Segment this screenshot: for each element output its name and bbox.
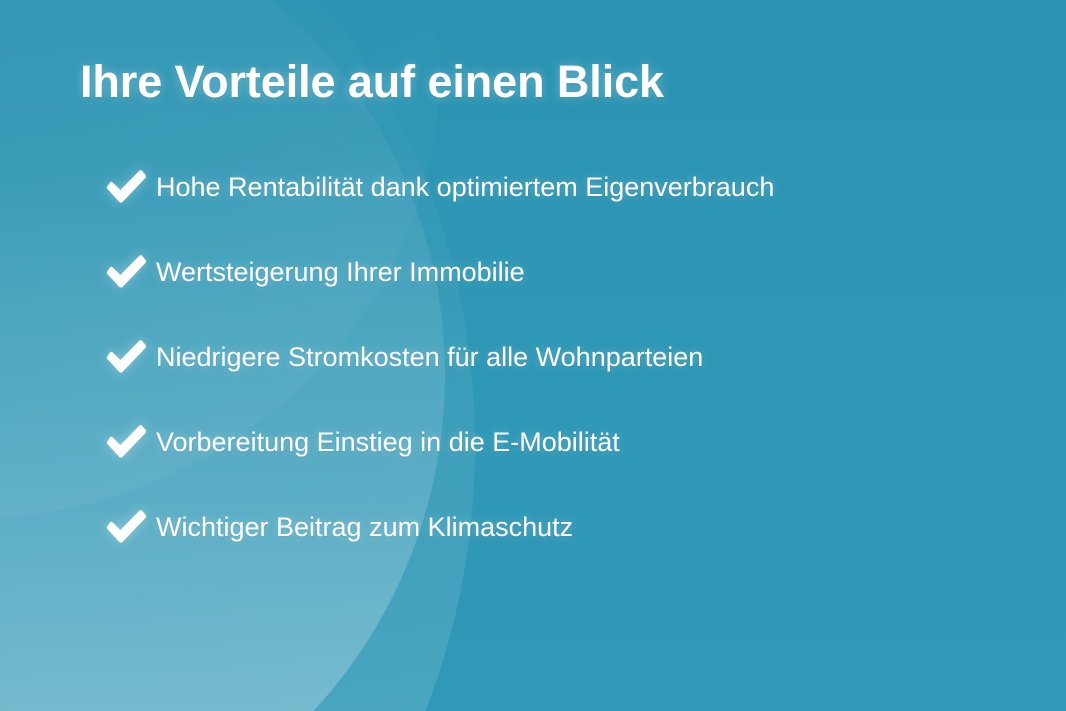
benefit-list-item: Vorbereitung Einstieg in die E-Mobilität <box>104 419 774 465</box>
check-icon <box>104 252 150 292</box>
benefit-list-item: Niedrigere Stromkosten für alle Wohnpart… <box>104 334 774 380</box>
check-icon <box>104 507 150 547</box>
slide-title: Ihre Vorteile auf einen Blick <box>80 56 664 108</box>
benefit-label: Niedrigere Stromkosten für alle Wohnpart… <box>156 342 703 373</box>
slide-content: Ihre Vorteile auf einen Blick Hohe Renta… <box>0 0 1066 711</box>
benefit-label: Wertsteigerung Ihrer Immobilie <box>156 257 525 288</box>
benefit-list-item: Wichtiger Beitrag zum Klimaschutz <box>104 504 774 550</box>
benefit-list: Hohe Rentabilität dank optimiertem Eigen… <box>104 164 774 550</box>
slide-canvas: Ihre Vorteile auf einen Blick Hohe Renta… <box>0 0 1066 711</box>
benefit-label: Hohe Rentabilität dank optimiertem Eigen… <box>156 172 774 203</box>
benefit-list-item: Hohe Rentabilität dank optimiertem Eigen… <box>104 164 774 210</box>
benefit-label: Wichtiger Beitrag zum Klimaschutz <box>156 512 573 543</box>
benefit-list-item: Wertsteigerung Ihrer Immobilie <box>104 249 774 295</box>
check-icon <box>104 422 150 462</box>
check-icon <box>104 167 150 207</box>
check-icon <box>104 337 150 377</box>
benefit-label: Vorbereitung Einstieg in die E-Mobilität <box>156 427 620 458</box>
